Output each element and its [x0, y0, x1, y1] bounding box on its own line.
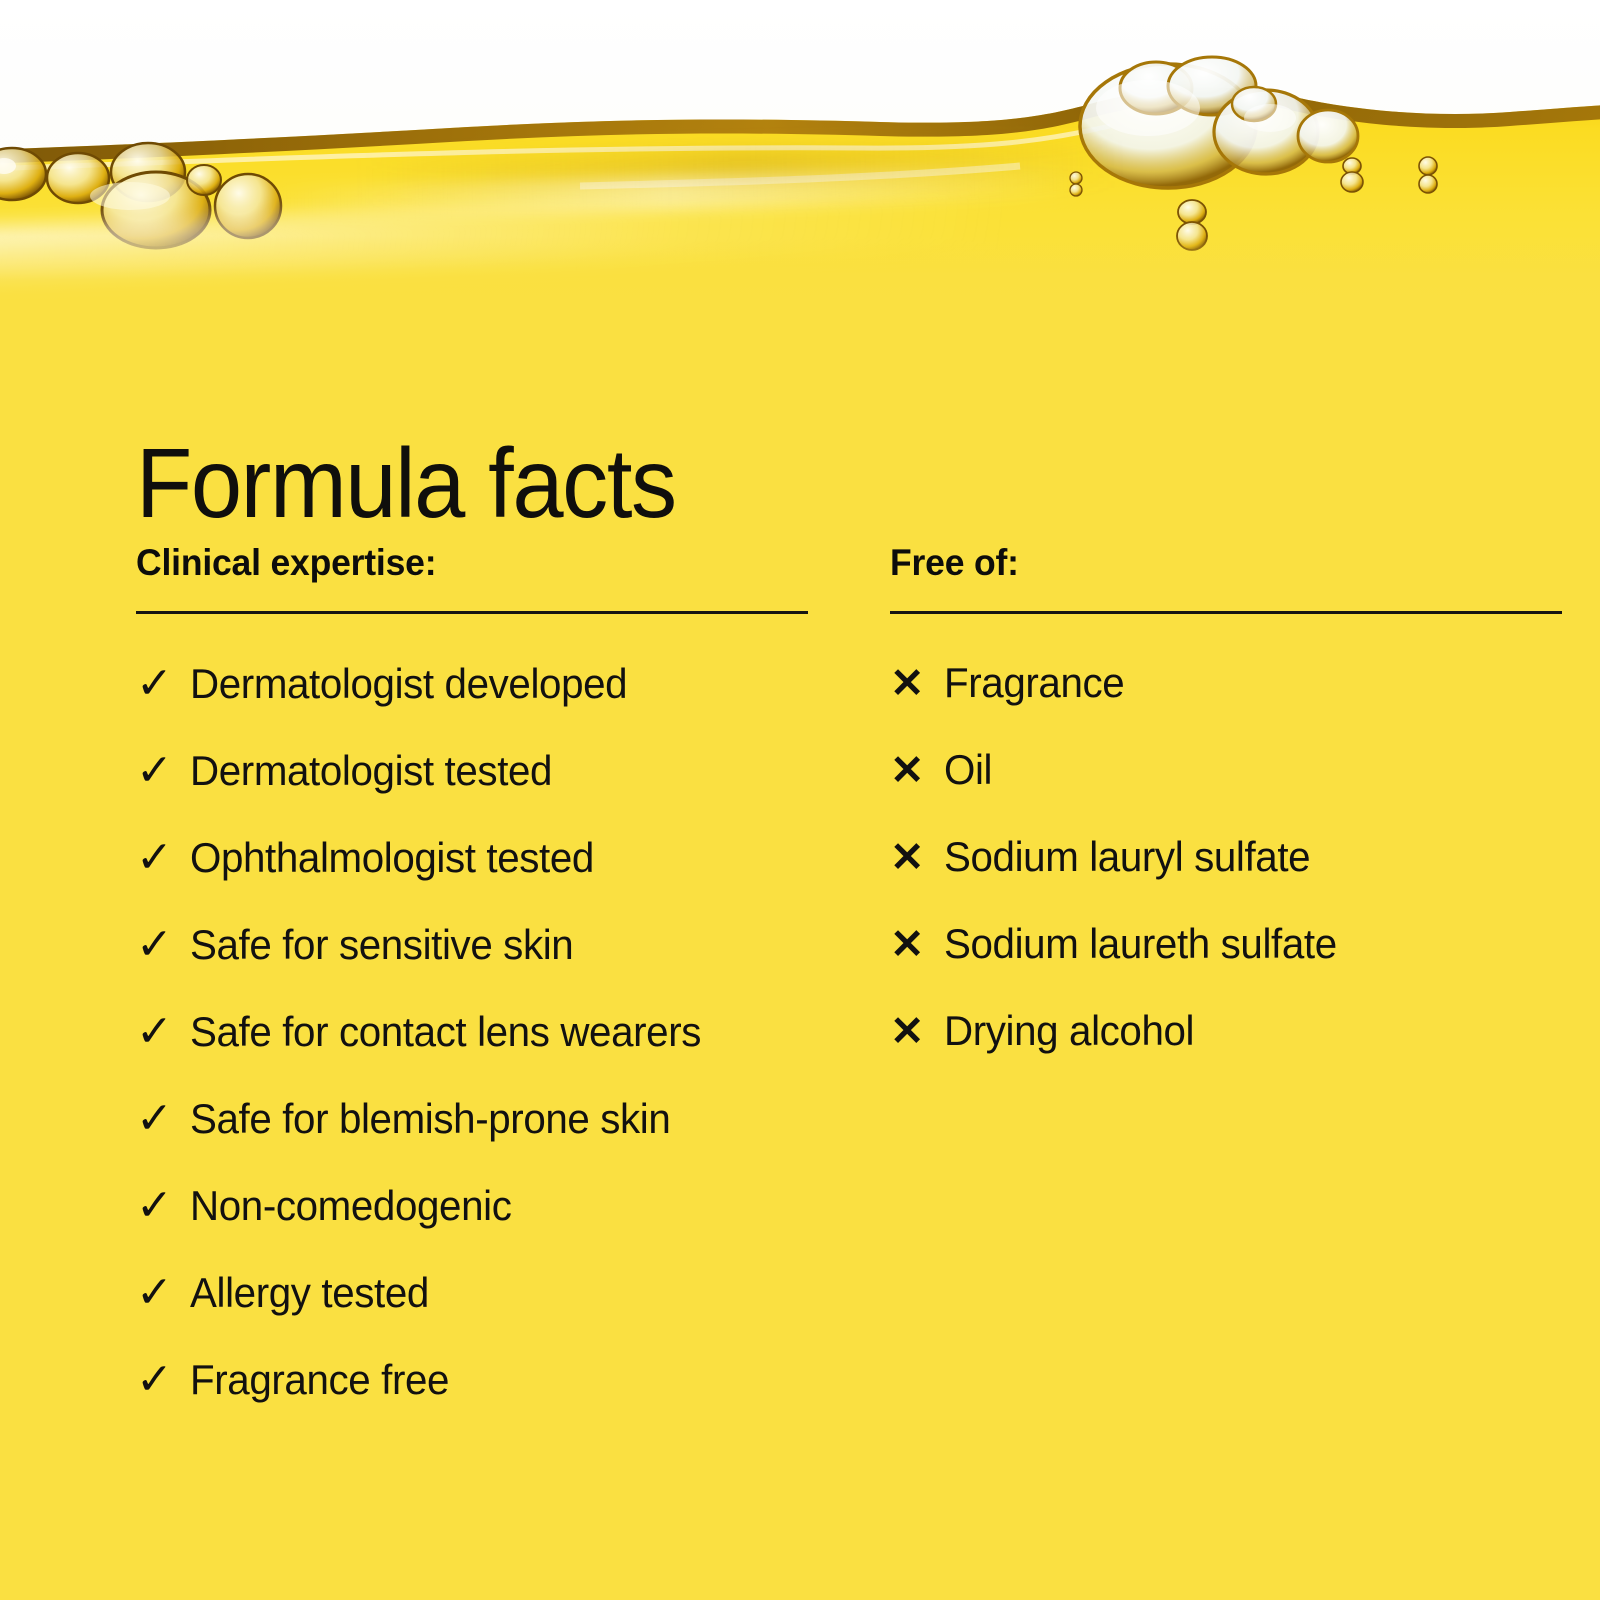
checkmark-icon: ✓: [136, 1271, 190, 1315]
list-item: ✓ Safe for sensitive skin: [136, 923, 808, 1010]
column-divider-clinical-expertise: [136, 611, 808, 614]
oil-liquid-photo: [0, 0, 1600, 300]
checkmark-icon: ✓: [136, 923, 190, 967]
list-item: ✓ Dermatologist tested: [136, 749, 808, 836]
checkmark-icon: ✓: [136, 1358, 190, 1402]
list-item-label: Safe for sensitive skin: [190, 924, 573, 966]
list-item-label: Dermatologist developed: [190, 663, 627, 705]
column-heading-free-of: Free of:: [890, 544, 1535, 581]
cross-icon: ✕: [890, 750, 944, 791]
list-item-label: Drying alcohol: [944, 1010, 1194, 1052]
list-item-label: Oil: [944, 749, 992, 791]
list-item-label: Non-comedogenic: [190, 1185, 511, 1227]
list-item-label: Safe for blemish-prone skin: [190, 1098, 670, 1140]
cross-icon: ✕: [890, 663, 944, 704]
cross-icon: ✕: [890, 1011, 944, 1052]
facts-list-free-of: ✕ Fragrance ✕ Oil ✕ Sodium lauryl sulfat…: [890, 662, 1562, 1097]
list-item-label: Allergy tested: [190, 1272, 429, 1314]
checkmark-icon: ✓: [136, 749, 190, 793]
list-item: ✓ Safe for blemish-prone skin: [136, 1097, 808, 1184]
list-item-label: Safe for contact lens wearers: [190, 1011, 701, 1053]
list-item-label: Sodium lauryl sulfate: [944, 836, 1310, 878]
checkmark-icon: ✓: [136, 1184, 190, 1228]
list-item-label: Ophthalmologist tested: [190, 837, 594, 879]
checkmark-icon: ✓: [136, 1010, 190, 1054]
page-title: Formula facts: [136, 434, 676, 532]
list-item: ✕ Drying alcohol: [890, 1010, 1562, 1097]
list-item-label: Dermatologist tested: [190, 750, 552, 792]
list-item-label: Sodium laureth sulfate: [944, 923, 1337, 965]
list-item: ✕ Sodium lauryl sulfate: [890, 836, 1562, 923]
list-item: ✓ Non-comedogenic: [136, 1184, 808, 1271]
list-item-label: Fragrance free: [190, 1359, 449, 1401]
cross-icon: ✕: [890, 837, 944, 878]
column-divider-free-of: [890, 611, 1562, 614]
checkmark-icon: ✓: [136, 1097, 190, 1141]
checkmark-icon: ✓: [136, 836, 190, 880]
list-item: ✓ Safe for contact lens wearers: [136, 1010, 808, 1097]
column-heading-clinical-expertise: Clinical expertise:: [136, 544, 781, 581]
list-item: ✕ Fragrance: [890, 662, 1562, 749]
cross-icon: ✕: [890, 924, 944, 965]
list-item: ✕ Sodium laureth sulfate: [890, 923, 1562, 1010]
list-item-label: Fragrance: [944, 662, 1124, 704]
formula-facts-page: Formula facts Clinical expertise: ✓ Derm…: [0, 0, 1600, 1600]
facts-list-clinical-expertise: ✓ Dermatologist developed ✓ Dermatologis…: [136, 662, 808, 1445]
list-item: ✓ Allergy tested: [136, 1271, 808, 1358]
list-item: ✓ Ophthalmologist tested: [136, 836, 808, 923]
oil-surface: [0, 0, 1600, 300]
list-item: ✓ Dermatologist developed: [136, 662, 808, 749]
column-clinical-expertise: Clinical expertise: ✓ Dermatologist deve…: [136, 544, 808, 1445]
list-item: ✕ Oil: [890, 749, 1562, 836]
checkmark-icon: ✓: [136, 662, 190, 706]
list-item: ✓ Fragrance free: [136, 1358, 808, 1445]
oil-surface-svg: [0, 0, 1600, 300]
column-free-of: Free of: ✕ Fragrance ✕ Oil ✕ Sodium laur…: [890, 544, 1562, 1097]
